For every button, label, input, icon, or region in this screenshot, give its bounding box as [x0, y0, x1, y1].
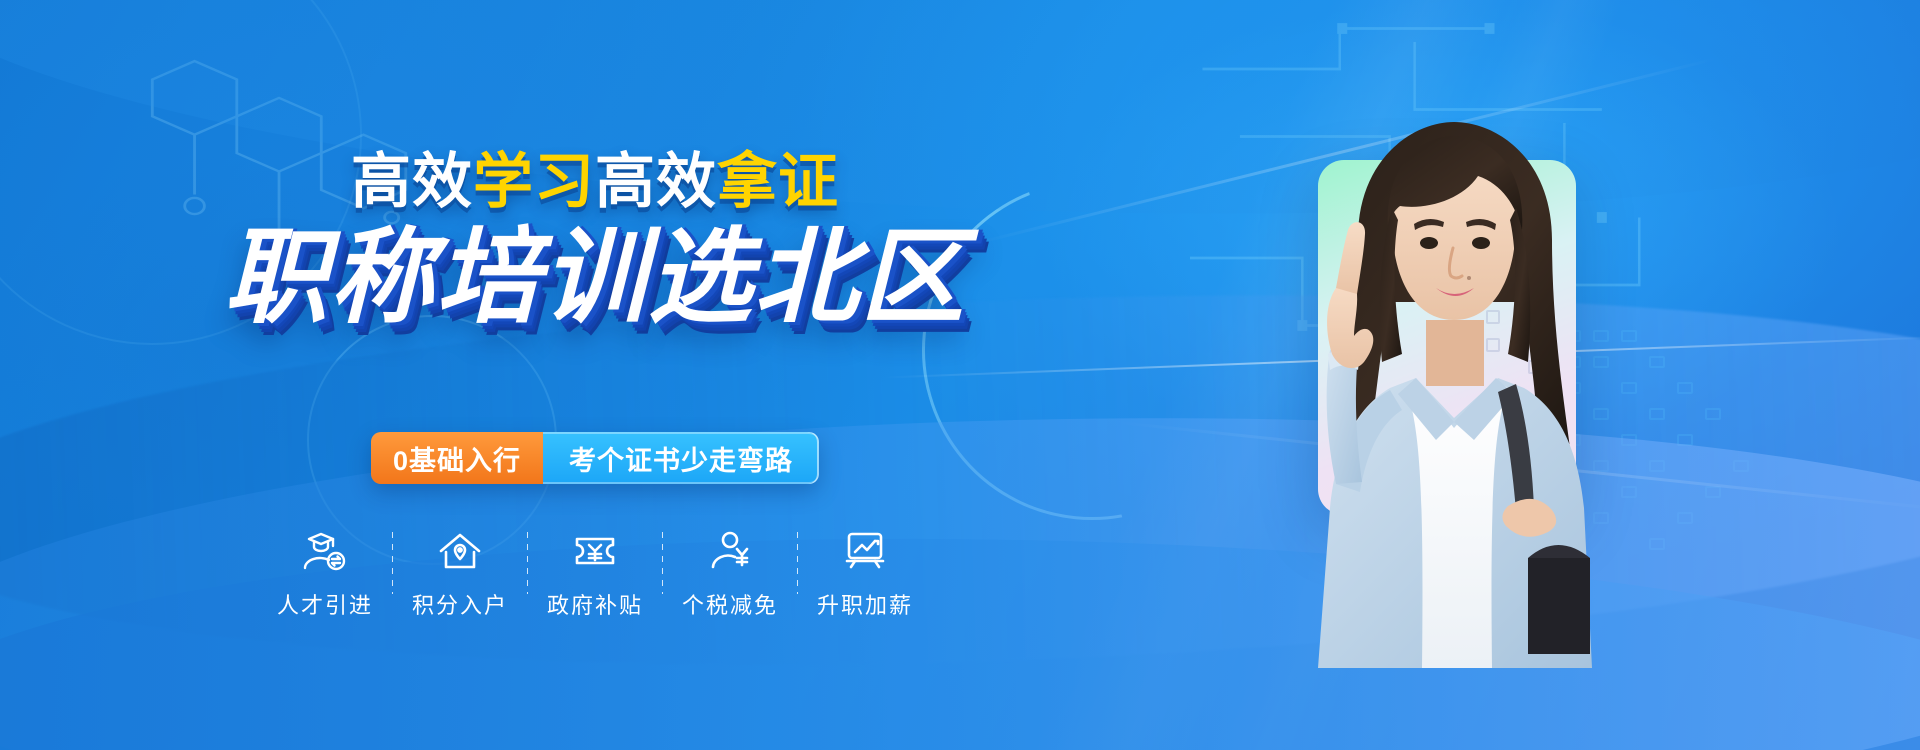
headline-main: 职称培训选北区: [0, 226, 1190, 330]
promo-banner: 高效学习高效拿证 职称培训选北区 0基础入行 考个证书少走弯路: [0, 0, 1920, 750]
pill-left-label: 0基础入行: [371, 432, 543, 484]
pill-right-label: 考个证书少走弯路: [543, 432, 819, 484]
banner-content: 高效学习高效拿证 职称培训选北区 0基础入行 考个证书少走弯路: [0, 0, 1190, 750]
feature-item-promotion[interactable]: 升职加薪: [798, 528, 932, 620]
feature-label: 积分入户: [412, 588, 508, 620]
person-yuan-icon: [709, 528, 751, 574]
tagline-pill[interactable]: 0基础入行 考个证书少走弯路: [371, 432, 819, 484]
headline-top-part: 高效: [595, 148, 717, 215]
ticket-yuan-icon: [573, 528, 617, 574]
headline-top-part: 高效: [351, 148, 473, 215]
feature-label: 升职加薪: [817, 588, 913, 620]
feature-item-talent[interactable]: 人才引进: [258, 528, 392, 620]
headline-top: 高效学习高效拿证: [0, 152, 1190, 212]
feature-label: 人才引进: [277, 588, 373, 620]
chart-board-icon: [843, 528, 887, 574]
headline-main-part-a: 职称培训: [224, 220, 648, 336]
feature-item-subsidy[interactable]: 政府补贴: [528, 528, 662, 620]
feature-label: 政府补贴: [547, 588, 643, 620]
headline-top-part: 学习: [473, 148, 595, 215]
presenter-photo: [1240, 88, 1660, 668]
headline-main-part-b: 选北区: [648, 220, 966, 336]
feature-item-settlement[interactable]: 积分入户: [393, 528, 527, 620]
feature-label: 个税减免: [682, 588, 778, 620]
house-pin-icon: [438, 528, 482, 574]
headline-top-part: 拿证: [717, 148, 839, 215]
graduate-person-icon: [302, 528, 348, 574]
feature-item-tax[interactable]: 个税减免: [663, 528, 797, 620]
feature-list: 人才引进 积分入户: [258, 528, 932, 620]
